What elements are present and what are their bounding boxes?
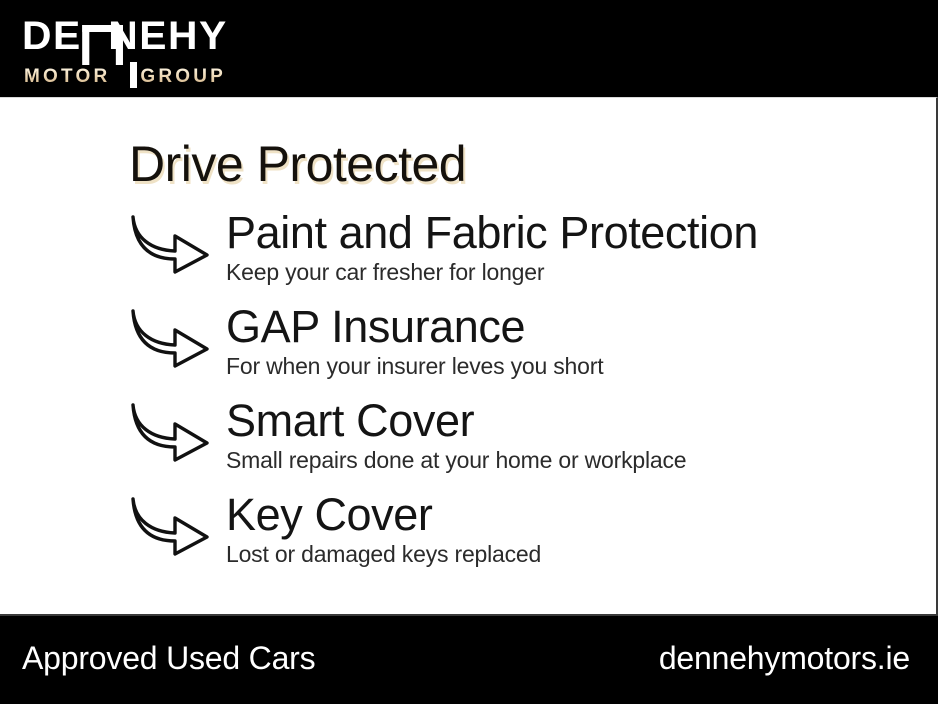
brand-logo-wordmark-part-2: NEHY: [108, 14, 227, 58]
feature-text: GAP Insurance For when your insurer leve…: [226, 302, 919, 380]
feature-subtitle: Small repairs done at your home or workp…: [226, 447, 919, 474]
feature-title: Smart Cover: [226, 396, 919, 446]
feature-item: Paint and Fabric Protection Keep your ca…: [129, 208, 919, 302]
feature-title: Paint and Fabric Protection: [226, 208, 919, 258]
feature-item: Smart Cover Small repairs done at your h…: [129, 396, 919, 490]
feature-text: Smart Cover Small repairs done at your h…: [226, 396, 919, 474]
header-bar: DENEHY MOTORGROUP: [0, 0, 938, 97]
feature-item: GAP Insurance For when your insurer leve…: [129, 302, 919, 396]
feature-list: Paint and Fabric Protection Keep your ca…: [129, 208, 919, 584]
brand-logo-inverted-n-glyph: [82, 14, 109, 58]
brand-logo-wordmark: DENEHY: [22, 14, 228, 58]
feature-item: Key Cover Lost or damaged keys replaced: [129, 490, 919, 584]
footer-approved-used-cars: Approved Used Cars: [22, 640, 315, 677]
curved-arrow-right-icon: [129, 400, 211, 462]
feature-text: Paint and Fabric Protection Keep your ca…: [226, 208, 919, 286]
feature-subtitle: Lost or damaged keys replaced: [226, 541, 919, 568]
content-panel: Drive Protected Paint and Fabric Protect…: [0, 97, 938, 616]
brand-logo[interactable]: DENEHY MOTORGROUP: [22, 14, 262, 86]
curved-arrow-right-icon: [129, 306, 211, 368]
footer-website-link[interactable]: dennehymotors.ie: [659, 640, 910, 677]
feature-title: GAP Insurance: [226, 302, 919, 352]
brand-logo-wordmark-part-1: DE: [22, 14, 82, 58]
advert-banner: DENEHY MOTORGROUP Drive Protected Paint …: [0, 0, 938, 704]
page-title: Drive Protected: [129, 135, 466, 193]
feature-subtitle: Keep your car fresher for longer: [226, 259, 919, 286]
feature-subtitle: For when your insurer leves you short: [226, 353, 919, 380]
feature-text: Key Cover Lost or damaged keys replaced: [226, 490, 919, 568]
brand-logo-tagline-group: GROUP: [140, 66, 226, 87]
brand-logo-tagline: MOTORGROUP: [24, 66, 226, 88]
footer-bar: Approved Used Cars dennehymotors.ie: [0, 616, 938, 704]
brand-logo-tagline-motor: MOTOR: [24, 66, 110, 87]
curved-arrow-right-icon: [129, 494, 211, 556]
feature-title: Key Cover: [226, 490, 919, 540]
curved-arrow-right-icon: [129, 212, 211, 274]
